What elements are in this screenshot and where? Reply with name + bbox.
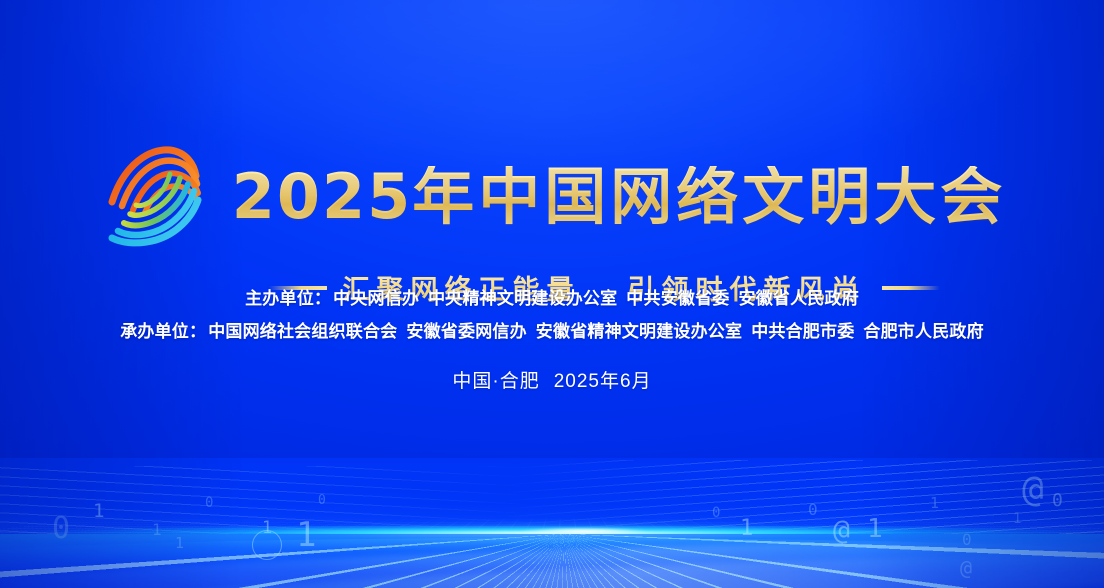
organizer-org: 安徽省人民政府 [739, 289, 859, 308]
organizer-org: 中央网信办 [333, 289, 419, 308]
co-organizer-line: 承办单位：中国网络社会组织联合会安徽省委网信办安徽省精神文明建设办公室中共合肥市… [0, 315, 1104, 348]
organizer-org: 中央精神文明建设办公室 [428, 289, 617, 308]
conference-poster: 0 1 1 0 1 0 1 1 0 1 0 1 1 0 1 0 @ @ @ [0, 0, 1104, 588]
title-row: 2025年中国网络文明大会 [98, 140, 1007, 254]
venue-date: 2025年6月 [554, 371, 652, 392]
organizer-org: 中共安徽省委 [626, 289, 729, 308]
co-organizer-org: 安徽省委网信办 [406, 322, 526, 341]
pagoda-emblem-logo [98, 144, 218, 254]
perspective-ground [0, 534, 1104, 588]
organizer-line: 主办单位：中央网信办中央精神文明建设办公室中共安徽省委安徽省人民政府 [0, 282, 1104, 315]
credits-block: 主办单位：中央网信办中央精神文明建设办公室中共安徽省委安徽省人民政府 承办单位：… [0, 282, 1104, 348]
co-organizer-org: 安徽省精神文明建设办公室 [536, 322, 742, 341]
digital-horizon-scene: 0 1 1 0 1 0 1 1 0 1 0 1 1 0 1 0 @ @ @ [0, 458, 1104, 588]
organizer-label: 主办单位： [245, 289, 331, 308]
title-year: 2025 [232, 160, 413, 233]
co-organizer-org: 合肥市人民政府 [863, 322, 983, 341]
venue-place: 中国·合肥 [452, 371, 539, 392]
venue-line: 中国·合肥2025年6月 [0, 366, 1104, 393]
page-title: 2025年中国网络文明大会 [232, 166, 1007, 228]
title-rest: 年中国网络文明大会 [412, 160, 1006, 233]
co-organizer-org: 中共合肥市委 [751, 322, 854, 341]
co-organizer-label: 承办单位： [120, 322, 206, 341]
co-organizer-org: 中国网络社会组织联合会 [208, 322, 397, 341]
